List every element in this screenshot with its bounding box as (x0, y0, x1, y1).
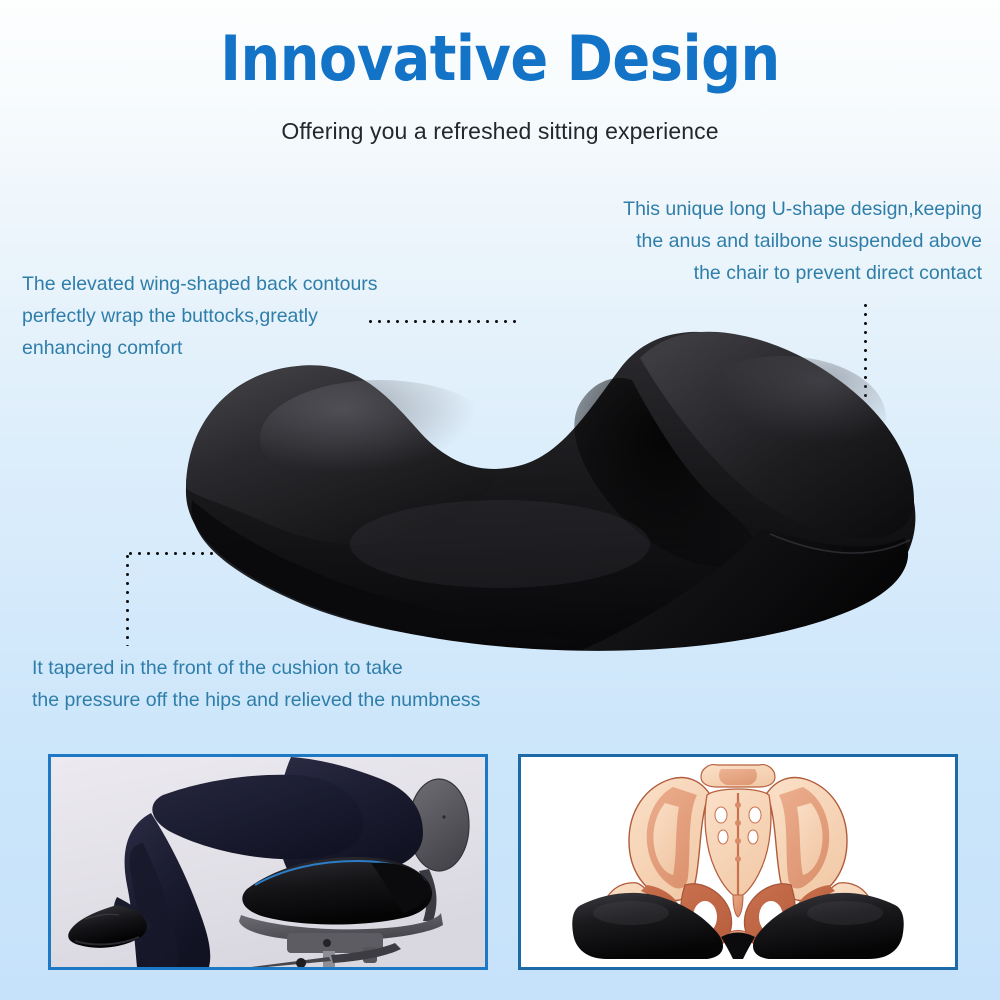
sacral-segment (735, 802, 741, 808)
pelvis-over-cushion-illustration (521, 757, 955, 967)
chair-backrest-rivet (442, 815, 445, 818)
cushion-illustration (170, 288, 930, 656)
tapered-front-callout: It tapered in the front of the cushion t… (32, 652, 480, 716)
sacral-segment (735, 856, 741, 862)
callout-line: the chair to prevent direct contact (623, 257, 982, 289)
callout-line: It tapered in the front of the cushion t… (32, 652, 480, 684)
cushion-highlight-center (350, 500, 650, 588)
callout-line: This unique long U-shape design,keeping (623, 193, 982, 225)
cushion-highlight-right (678, 356, 886, 480)
chair-mechanism-knob (323, 939, 331, 947)
sacral-foramen (749, 807, 761, 823)
memory-foam-seat-cushion (170, 288, 930, 656)
leader-line-tapered-front-vertical (126, 552, 129, 646)
page-title: Innovative Design (0, 26, 1000, 91)
cushion-left-highlight (593, 901, 669, 925)
infographic-page: Innovative Design Offering you a refresh… (0, 0, 1000, 1000)
sacral-foramen (748, 830, 758, 844)
sacral-foramen (715, 807, 727, 823)
sacral-segment (735, 820, 741, 826)
lumbar-vertebra-shade (719, 769, 757, 785)
page-subtitle: Offering you a refreshed sitting experie… (0, 118, 1000, 145)
person-sitting-on-cushion-photo (48, 754, 488, 970)
cushion-right-highlight (807, 901, 883, 925)
callout-line: the pressure off the hips and relieved t… (32, 684, 480, 716)
sacral-segment (735, 838, 741, 844)
pelvis-anatomy-diagram (518, 754, 958, 970)
u-shape-design-callout: This unique long U-shape design,keeping … (623, 193, 982, 289)
cushion-highlight-left (260, 380, 500, 496)
callout-line: the anus and tailbone suspended above (623, 225, 982, 257)
sitting-posture-illustration (51, 757, 485, 967)
sacral-foramen (718, 830, 728, 844)
